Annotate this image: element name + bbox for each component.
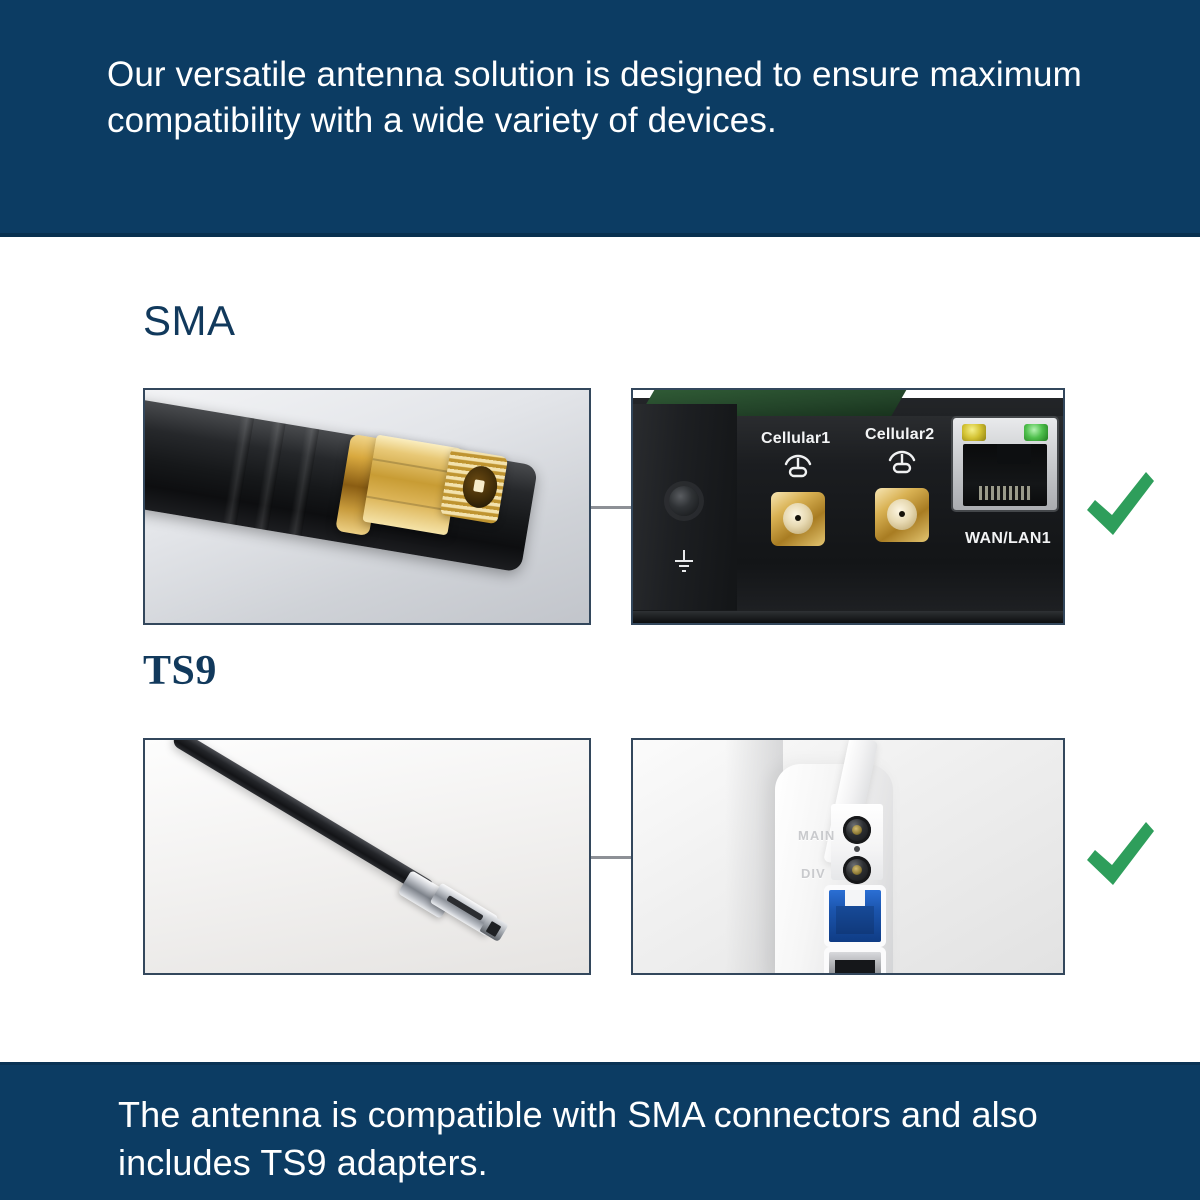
coax-center-contact [852,865,862,875]
footer-banner: The antenna is compatible with SMA conne… [0,1062,1200,1200]
ground-icon [671,548,697,574]
panel-connector-line [591,856,631,859]
router-bottom-edge [631,611,1065,623]
rj45-cavity [835,960,875,975]
cable-ripple [222,416,254,525]
port-label-cellular1: Cellular1 [761,430,830,448]
rj45-notch [845,890,865,906]
black-router-ports-photo: Cellular1 Cellular2 [633,390,1063,623]
grounding-screw [669,486,699,516]
cable-ripple [254,421,286,530]
jack-center-pin [795,515,801,521]
antenna-icon [781,452,815,478]
check-icon [1082,466,1158,542]
sma-male-connector-photo [145,390,589,623]
white-router-photo-panel: MAIN DIV [631,738,1065,975]
section-label-ts9: TS9 [143,650,217,692]
white-router-ports-photo: MAIN DIV [633,740,1063,973]
coax-port-div [843,856,871,884]
header-text: Our versatile antenna solution is design… [107,52,1120,144]
hex-facet [373,458,458,474]
rj45-port-gray [829,952,881,975]
check-icon [1082,816,1158,892]
sma-female-jack-cellular1 [771,492,825,546]
rj45-cavity [963,444,1047,506]
rj45-notch [997,444,1031,464]
black-router-photo-panel: Cellular1 Cellular2 [631,388,1065,625]
rj45-pins [979,486,1031,500]
rj45-port-wan-lan1 [953,418,1057,510]
jack-center-pin [899,511,905,517]
ts9-connector-photo [145,740,589,973]
footer-text: The antenna is compatible with SMA conne… [118,1091,1140,1187]
sma-female-jack-cellular2 [875,488,929,542]
hex-facet [366,496,451,512]
led-green [1024,424,1048,441]
section-label-sma: SMA [143,300,236,342]
sma-connector-photo-panel [143,388,591,625]
port-label-main: MAIN [798,828,835,843]
rj45-cavity [836,906,874,934]
ts9-connector-photo-panel [143,738,591,975]
port-label-wan-lan1: WAN/LAN1 [965,530,1051,548]
reset-pinhole [854,846,860,852]
cable-ripple [288,427,320,536]
header-banner: Our versatile antenna solution is design… [0,0,1200,237]
rj45-port-blue [829,890,881,942]
led-amber [962,424,986,441]
antenna-icon [885,448,919,474]
coax-port-main [843,816,871,844]
sma-center-pin [473,479,485,492]
panel-connector-line [591,506,631,509]
port-label-div: DIV [801,866,826,881]
coax-center-contact [852,825,862,835]
thin-coax-cable [171,738,437,898]
port-label-cellular2: Cellular2 [865,426,934,444]
